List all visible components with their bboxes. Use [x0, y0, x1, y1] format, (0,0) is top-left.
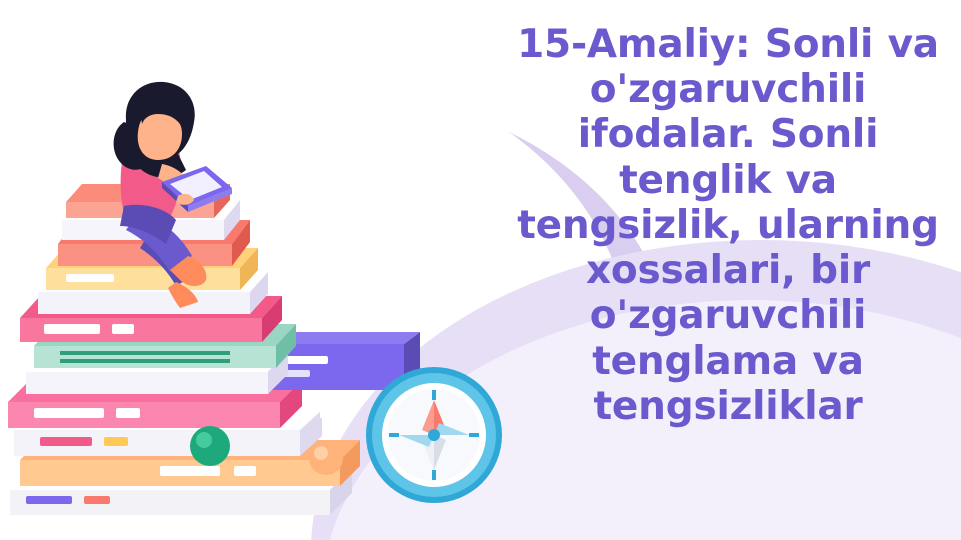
title-block: 15-Amaliy: Sonli va o'zgaruvchili ifodal… — [505, 22, 951, 429]
illustration-girl-reading-on-books — [0, 60, 540, 540]
compass-icon — [366, 367, 502, 503]
orange-dot-icon — [309, 441, 343, 475]
slide-canvas: 15-Amaliy: Sonli va o'zgaruvchili ifodal… — [0, 0, 961, 540]
page-title: 15-Amaliy: Sonli va o'zgaruvchili ifodal… — [505, 22, 951, 429]
green-dot-icon — [190, 426, 230, 466]
